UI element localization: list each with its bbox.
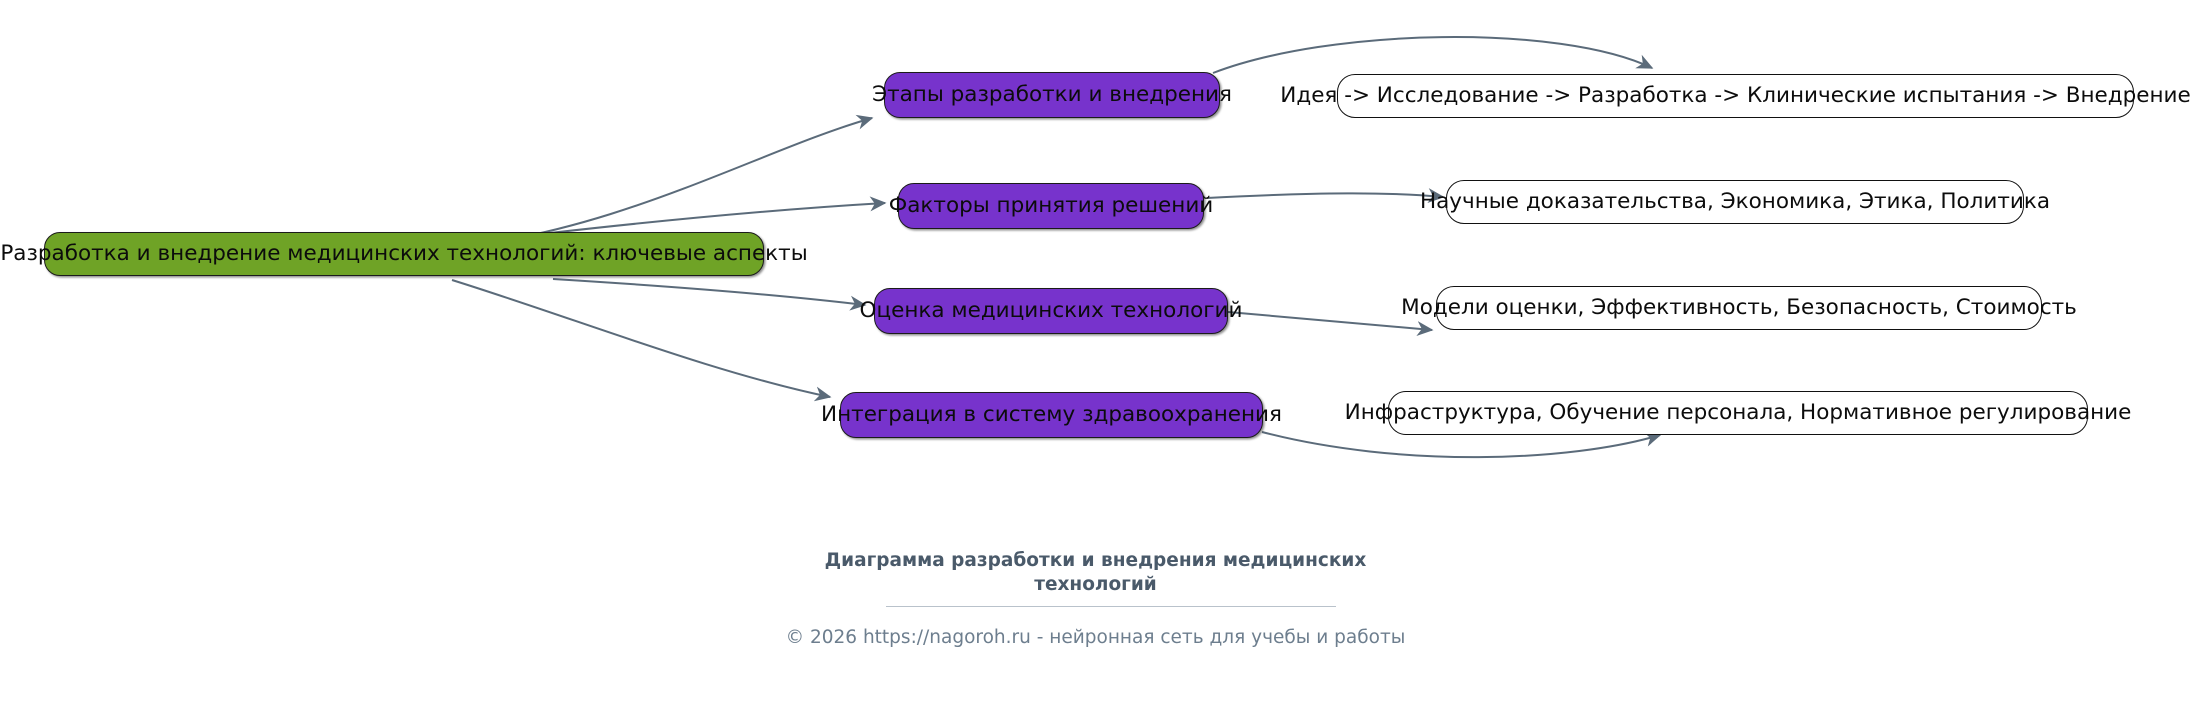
mindmap-root-label: Разработка и внедрение медицинских техно…	[0, 243, 807, 265]
mindmap-branch-label-2: Факторы принятия решений	[889, 195, 1214, 217]
edge-root-to-branch-2	[550, 203, 885, 233]
footer-divider	[886, 606, 1336, 607]
mindmap-branch-label-1: Этапы разработки и внедрения	[872, 84, 1232, 106]
mindmap-leaf-node-3[interactable]: Модели оценки, Эффективность, Безопаснос…	[1436, 286, 2042, 330]
mindmap-branch-label-3: Оценка медицинских технологий	[860, 300, 1243, 322]
mindmap-canvas: Разработка и внедрение медицинских техно…	[0, 0, 2191, 720]
mindmap-leaf-node-2[interactable]: Научные доказательства, Экономика, Этика…	[1446, 180, 2024, 224]
edge-root-to-branch-3	[553, 279, 865, 305]
diagram-caption-line-1: Диаграмма разработки и внедрения медицин…	[0, 549, 2191, 573]
edge-root-to-branch-4	[452, 280, 830, 397]
mindmap-leaf-node-4[interactable]: Инфраструктура, Обучение персонала, Норм…	[1388, 391, 2088, 435]
edge-branch-4-to-leaf-4	[1262, 432, 1660, 457]
mindmap-leaf-label-2: Научные доказательства, Экономика, Этика…	[1420, 191, 2050, 213]
mindmap-branch-node-2[interactable]: Факторы принятия решений	[898, 183, 1204, 229]
mindmap-leaf-label-4: Инфраструктура, Обучение персонала, Норм…	[1345, 402, 2132, 424]
edge-branch-1-to-leaf-1	[1213, 37, 1652, 73]
diagram-caption-line-2: технологий	[0, 573, 2191, 597]
mindmap-branch-node-1[interactable]: Этапы разработки и внедрения	[884, 72, 1220, 118]
mindmap-leaf-label-1: Идея -> Исследование -> Разработка -> Кл…	[1280, 85, 2191, 107]
edge-root-to-branch-1	[449, 118, 872, 248]
footer-copyright: © 2026 https://nagoroh.ru - нейронная се…	[0, 627, 2191, 648]
mindmap-branch-label-4: Интеграция в систему здравоохранения	[821, 404, 1282, 426]
mindmap-leaf-label-3: Модели оценки, Эффективность, Безопаснос…	[1401, 297, 2077, 319]
edge-branch-2-to-leaf-2	[1207, 193, 1443, 198]
mindmap-root-node[interactable]: Разработка и внедрение медицинских техно…	[44, 232, 764, 276]
mindmap-branch-node-4[interactable]: Интеграция в систему здравоохранения	[840, 392, 1263, 438]
mindmap-branch-node-3[interactable]: Оценка медицинских технологий	[874, 288, 1228, 334]
mindmap-leaf-node-1[interactable]: Идея -> Исследование -> Разработка -> Кл…	[1337, 74, 2134, 118]
diagram-caption: Диаграмма разработки и внедрения медицин…	[0, 549, 2191, 596]
